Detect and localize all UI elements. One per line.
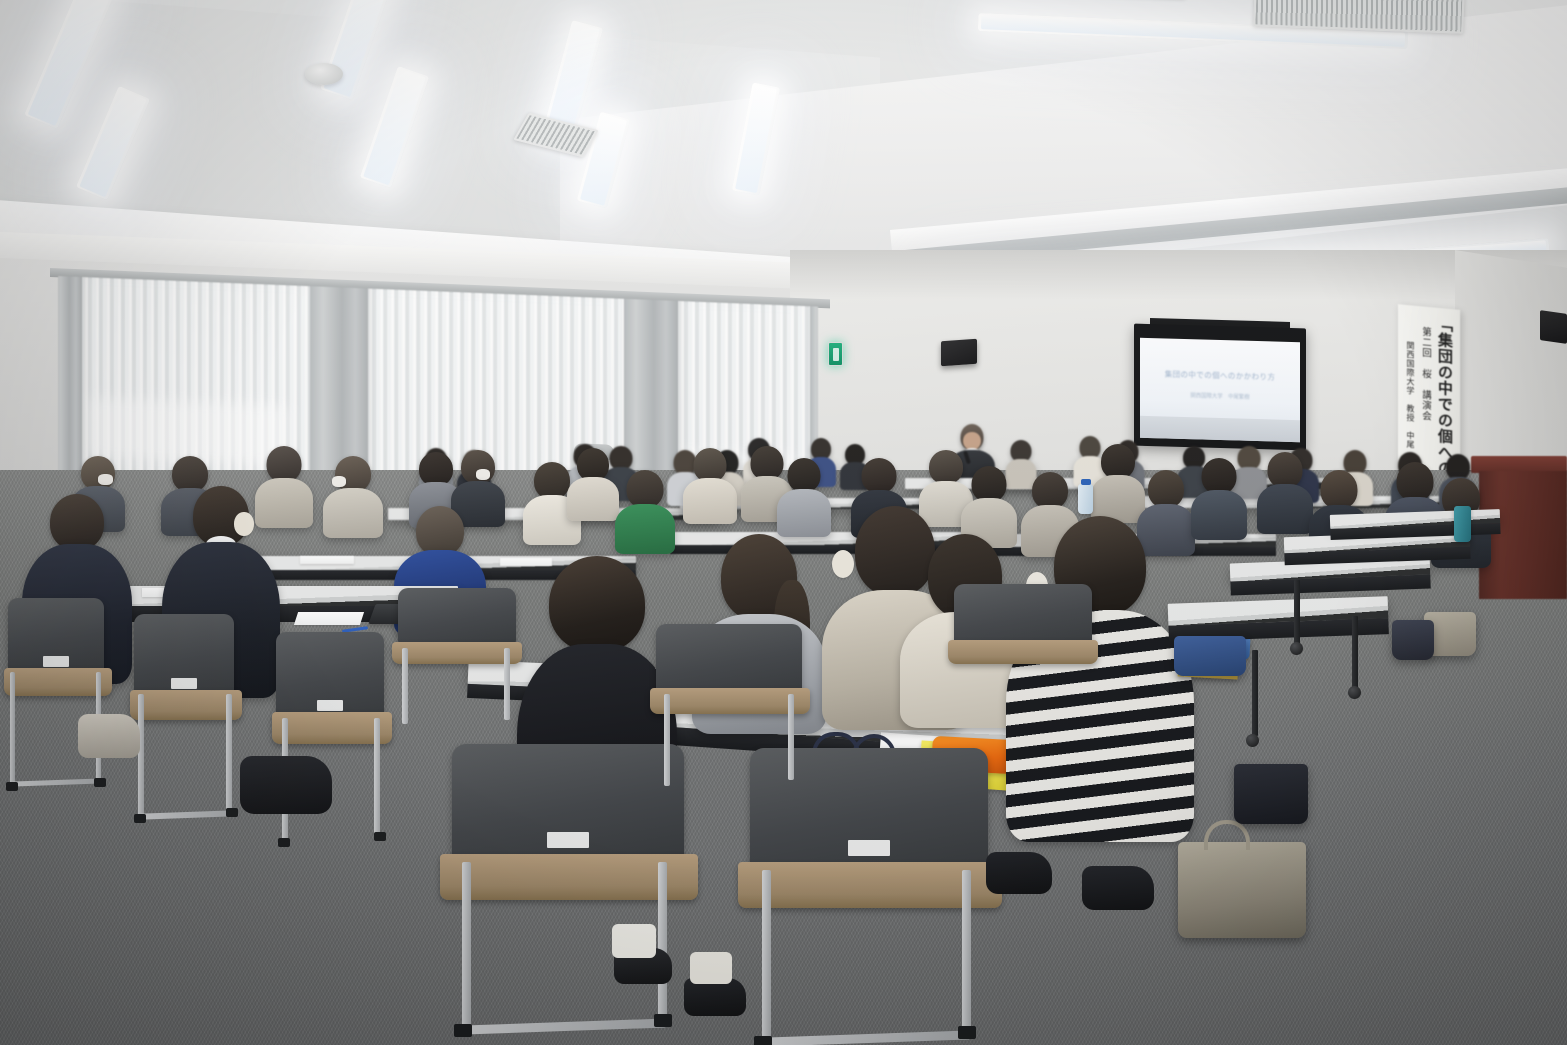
audience-member bbox=[1258, 452, 1312, 530]
torso bbox=[1191, 490, 1247, 540]
teal-tumbler bbox=[1454, 506, 1471, 542]
head bbox=[534, 462, 570, 499]
chair-back bbox=[276, 632, 384, 718]
head bbox=[972, 466, 1007, 502]
sock bbox=[612, 924, 656, 958]
bottle-cap bbox=[1081, 479, 1091, 485]
banner-sub-text: 第二回 桜 講演会 bbox=[1420, 326, 1430, 447]
chair-foot bbox=[226, 808, 238, 817]
chair-leg bbox=[10, 672, 15, 784]
table-caster-icon bbox=[1290, 642, 1303, 655]
slide-subtitle: 関西国際大学 中尾繁樹 bbox=[1159, 390, 1281, 401]
blue-floor-bag bbox=[1174, 636, 1246, 676]
chair-cross-rail bbox=[12, 778, 102, 786]
water-bottle bbox=[1078, 484, 1093, 514]
chair-back bbox=[954, 584, 1092, 646]
shoe bbox=[1082, 866, 1154, 910]
audience-member bbox=[1192, 458, 1246, 536]
projection-screen-lower-band bbox=[1140, 416, 1300, 442]
audience-member bbox=[616, 470, 674, 550]
head bbox=[1101, 444, 1135, 479]
chair-foot bbox=[94, 778, 106, 787]
chair-seat bbox=[948, 640, 1098, 664]
head bbox=[81, 456, 115, 490]
torso bbox=[1257, 484, 1313, 534]
chair-label bbox=[171, 678, 197, 689]
head bbox=[694, 448, 727, 482]
chair-cross-rail bbox=[466, 1019, 666, 1035]
head bbox=[788, 458, 821, 492]
chair-leg bbox=[138, 694, 144, 816]
head bbox=[627, 470, 664, 508]
chair-seat bbox=[392, 642, 522, 664]
shoe bbox=[986, 852, 1052, 894]
audience-member bbox=[1092, 444, 1144, 518]
chair-leg bbox=[462, 862, 471, 1030]
head bbox=[50, 494, 104, 550]
bag-under-table bbox=[240, 756, 332, 814]
chair-foot bbox=[754, 1036, 772, 1045]
torso bbox=[777, 489, 831, 537]
chair-cross-rail bbox=[140, 810, 234, 819]
chair-back bbox=[134, 614, 234, 696]
shoe bbox=[78, 714, 140, 758]
chair bbox=[650, 624, 810, 794]
chair-back bbox=[656, 624, 802, 694]
chair-foot bbox=[454, 1024, 472, 1037]
wall-front-shadow bbox=[790, 250, 1567, 300]
head bbox=[1032, 472, 1068, 509]
handout-paper bbox=[300, 556, 354, 564]
chair-leg bbox=[504, 648, 510, 720]
chair-seat bbox=[650, 688, 810, 714]
chair-back bbox=[398, 588, 516, 646]
chair-cross-rail bbox=[766, 1030, 970, 1045]
head bbox=[929, 450, 963, 484]
chair-label bbox=[547, 832, 589, 848]
wall-speaker-icon bbox=[941, 339, 977, 367]
face-mask-icon bbox=[476, 469, 490, 480]
table-leg bbox=[1252, 650, 1258, 736]
beige-handbag bbox=[1178, 842, 1306, 938]
audience-member bbox=[568, 448, 618, 518]
emergency-exit-sign-icon bbox=[828, 342, 843, 366]
head bbox=[419, 452, 453, 486]
face-mask-icon bbox=[832, 550, 854, 578]
chair bbox=[948, 584, 1098, 734]
chair-foot bbox=[278, 838, 290, 847]
projection-screen: 集団の中での個へのかかわり方 関西国際大学 中尾繁樹 bbox=[1134, 324, 1306, 451]
chair bbox=[392, 588, 522, 728]
torso bbox=[683, 478, 737, 524]
chair bbox=[130, 614, 242, 826]
head bbox=[416, 506, 464, 556]
dark-floor-bag bbox=[1234, 764, 1308, 824]
audience-member bbox=[684, 448, 736, 520]
torso bbox=[567, 477, 619, 521]
head bbox=[267, 446, 302, 482]
chair-label bbox=[43, 656, 69, 667]
table-caster-icon bbox=[1348, 686, 1361, 699]
head bbox=[1148, 470, 1184, 508]
audience-member bbox=[324, 456, 382, 534]
chair-label bbox=[848, 840, 890, 856]
chair-foot bbox=[958, 1026, 976, 1039]
table-caster-icon bbox=[1246, 734, 1259, 747]
smoke-detector-icon bbox=[305, 63, 343, 85]
chair-leg bbox=[374, 718, 380, 836]
chair-foot bbox=[374, 832, 386, 841]
chair-foot bbox=[6, 782, 18, 791]
chair bbox=[272, 632, 392, 852]
chair-leg bbox=[658, 862, 667, 1020]
audience-member bbox=[962, 466, 1016, 544]
wall-speaker-icon bbox=[1540, 310, 1567, 344]
chair-leg bbox=[788, 694, 794, 780]
chair-back bbox=[8, 598, 104, 674]
head bbox=[549, 556, 645, 652]
head bbox=[1321, 470, 1358, 509]
chair-leg bbox=[402, 648, 408, 724]
chair-foot bbox=[134, 814, 146, 823]
floor-bag bbox=[1392, 620, 1434, 660]
chair-label bbox=[317, 700, 343, 711]
audience-member bbox=[778, 458, 830, 532]
torso bbox=[615, 504, 675, 554]
torso bbox=[323, 488, 383, 538]
chair bbox=[4, 598, 112, 794]
head bbox=[1397, 462, 1434, 501]
chair-foot bbox=[654, 1014, 672, 1027]
table-leg bbox=[1352, 616, 1358, 688]
table-leg bbox=[1294, 580, 1300, 644]
chair-leg bbox=[962, 870, 971, 1032]
face-mask-icon bbox=[332, 476, 346, 487]
chair-leg bbox=[762, 870, 771, 1042]
face-mask-icon bbox=[234, 512, 254, 536]
head bbox=[1202, 458, 1237, 494]
handout-paper bbox=[294, 612, 364, 625]
chair-leg bbox=[226, 694, 232, 810]
face-mask-icon bbox=[98, 474, 113, 485]
slide-title: 集団の中での個へのかかわり方 bbox=[1153, 368, 1287, 383]
head bbox=[862, 458, 897, 493]
head bbox=[1268, 452, 1303, 488]
seminar-room-photo: 集団の中での個へのかかわり方 関西国際大学 中尾繁樹 「集団の中での個への関 第… bbox=[0, 0, 1567, 1045]
chair-leg bbox=[664, 694, 670, 786]
sock bbox=[690, 952, 732, 984]
